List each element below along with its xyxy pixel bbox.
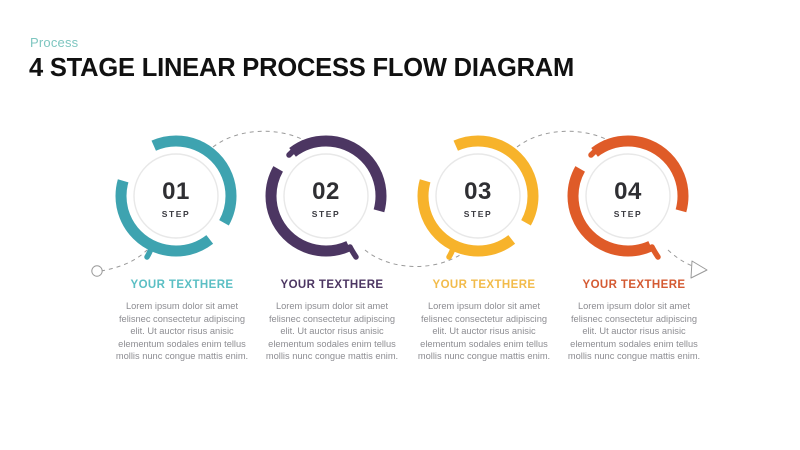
stage-2-tail-bottom	[350, 247, 356, 257]
stage-3-inner-disc	[436, 154, 520, 238]
stage-4-body: Lorem ipsum dolor sit amet felisnec cons…	[559, 300, 709, 363]
stage-2-inner-disc	[284, 154, 368, 238]
stage-2-graphic[interactable]	[271, 141, 381, 257]
stage-4-tail-bottom	[652, 247, 658, 257]
stage-4-graphic[interactable]	[573, 141, 683, 257]
process-flow-diagram	[0, 0, 800, 450]
slide-canvas: Process 4 STAGE LINEAR PROCESS FLOW DIAG…	[0, 0, 800, 450]
stage-1-text-column: YOUR TEXTHERE Lorem ipsum dolor sit amet…	[107, 279, 257, 363]
stage-2-text-column: YOUR TEXTHERE Lorem ipsum dolor sit amet…	[257, 279, 407, 363]
stage-3-graphic[interactable]	[423, 141, 533, 257]
stage-4-heading: YOUR TEXTHERE	[559, 279, 709, 291]
stage-3-heading: YOUR TEXTHERE	[409, 279, 559, 291]
stage-1-graphic[interactable]	[121, 141, 231, 257]
stage-3-body: Lorem ipsum dolor sit amet felisnec cons…	[409, 300, 559, 363]
start-dot-icon	[92, 266, 102, 276]
stage-1-heading: YOUR TEXTHERE	[107, 279, 257, 291]
stage-4-text-column: YOUR TEXTHERE Lorem ipsum dolor sit amet…	[559, 279, 709, 363]
end-arrow-icon	[691, 261, 707, 278]
stage-2-heading: YOUR TEXTHERE	[257, 279, 407, 291]
stage-2-body: Lorem ipsum dolor sit amet felisnec cons…	[257, 300, 407, 363]
stage-1-body: Lorem ipsum dolor sit amet felisnec cons…	[107, 300, 257, 363]
connector-start-dashed	[101, 250, 147, 271]
stage-3-text-column: YOUR TEXTHERE Lorem ipsum dolor sit amet…	[409, 279, 559, 363]
stage-4-inner-disc	[586, 154, 670, 238]
stage-1-inner-disc	[134, 154, 218, 238]
